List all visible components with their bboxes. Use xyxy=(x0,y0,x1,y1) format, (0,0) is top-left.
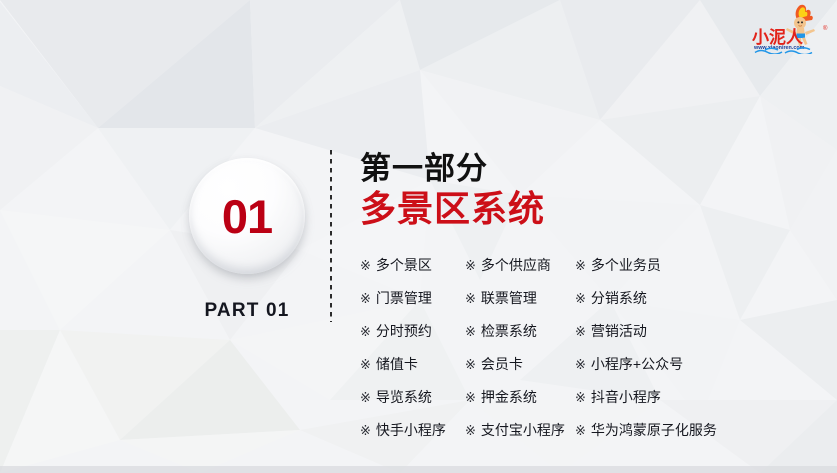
feature-item: ※ 检票系统 xyxy=(465,321,575,341)
feature-label: 小程序+公众号 xyxy=(591,354,683,374)
feature-item: ※ 多个供应商 xyxy=(465,255,575,275)
part-label-text: PART 01 xyxy=(163,300,331,322)
feature-item: ※ 会员卡 xyxy=(465,354,575,374)
feature-label: 联票管理 xyxy=(481,288,537,308)
asterisk-bullet-icon: ※ xyxy=(575,258,586,274)
feature-list-grid: ※ 多个景区 ※ 多个供应商 ※ 多个业务员 ※ 门票管理 ※ xyxy=(360,255,830,453)
feature-label: 门票管理 xyxy=(376,288,432,308)
feature-row: ※ 分时预约 ※ 检票系统 ※ 营销活动 xyxy=(360,321,830,354)
feature-row: ※ 快手小程序 ※ 支付宝小程序 ※ 华为鸿蒙原子化服务 xyxy=(360,420,830,453)
asterisk-bullet-icon: ※ xyxy=(575,291,586,307)
feature-label: 多个业务员 xyxy=(591,255,661,275)
asterisk-bullet-icon: ※ xyxy=(575,324,586,340)
feature-label: 检票系统 xyxy=(481,321,537,341)
feature-label: 营销活动 xyxy=(591,321,647,341)
feature-item: ※ 快手小程序 xyxy=(360,420,465,440)
part-badge-block: 01 PART 01 xyxy=(163,158,331,322)
asterisk-bullet-icon: ※ xyxy=(360,258,371,274)
section-title-secondary: 多景区系统 xyxy=(360,189,830,229)
asterisk-bullet-icon: ※ xyxy=(360,390,371,406)
registered-mark-icon: ® xyxy=(823,25,828,32)
section-content: 第一部分 多景区系统 ※ 多个景区 ※ 多个供应商 ※ 多个业务员 xyxy=(360,152,830,453)
circle-face: 01 xyxy=(189,158,305,274)
feature-item: ※ 门票管理 xyxy=(360,288,465,308)
feature-row: ※ 储值卡 ※ 会员卡 ※ 小程序+公众号 xyxy=(360,354,830,387)
part-number-text: 01 xyxy=(222,193,272,240)
asterisk-bullet-icon: ※ xyxy=(575,357,586,373)
feature-item: ※ 小程序+公众号 xyxy=(575,354,683,374)
part-number-circle: 01 xyxy=(189,158,305,274)
feature-item: ※ 导览系统 xyxy=(360,387,465,407)
feature-label: 押金系统 xyxy=(481,387,537,407)
feature-row: ※ 导览系统 ※ 押金系统 ※ 抖音小程序 xyxy=(360,387,830,420)
feature-item: ※ 多个景区 xyxy=(360,255,465,275)
feature-label: 华为鸿蒙原子化服务 xyxy=(591,420,717,440)
asterisk-bullet-icon: ※ xyxy=(465,291,476,307)
feature-label: 多个供应商 xyxy=(481,255,551,275)
asterisk-bullet-icon: ※ xyxy=(575,390,586,406)
logo-artwork: 小泥人 ® www.xiaoniren.com xyxy=(749,2,833,54)
asterisk-bullet-icon: ※ xyxy=(575,423,586,439)
xiaoniren-logo: 小泥人 ® www.xiaoniren.com xyxy=(749,2,833,54)
feature-item: ※ 华为鸿蒙原子化服务 xyxy=(575,420,717,440)
asterisk-bullet-icon: ※ xyxy=(360,291,371,307)
section-title-primary: 第一部分 xyxy=(360,152,830,187)
feature-item: ※ 支付宝小程序 xyxy=(465,420,575,440)
feature-label: 会员卡 xyxy=(481,354,523,374)
feature-item: ※ 押金系统 xyxy=(465,387,575,407)
asterisk-bullet-icon: ※ xyxy=(465,357,476,373)
asterisk-bullet-icon: ※ xyxy=(465,324,476,340)
asterisk-bullet-icon: ※ xyxy=(360,423,371,439)
feature-label: 多个景区 xyxy=(376,255,432,275)
feature-item: ※ 分销系统 xyxy=(575,288,647,308)
feature-item: ※ 分时预约 xyxy=(360,321,465,341)
asterisk-bullet-icon: ※ xyxy=(465,423,476,439)
feature-item: ※ 储值卡 xyxy=(360,354,465,374)
feature-label: 抖音小程序 xyxy=(591,387,661,407)
feature-item: ※ 联票管理 xyxy=(465,288,575,308)
asterisk-bullet-icon: ※ xyxy=(465,390,476,406)
feature-label: 支付宝小程序 xyxy=(481,420,565,440)
feature-label: 快手小程序 xyxy=(376,420,446,440)
feature-row: ※ 门票管理 ※ 联票管理 ※ 分销系统 xyxy=(360,288,830,321)
asterisk-bullet-icon: ※ xyxy=(360,324,371,340)
asterisk-bullet-icon: ※ xyxy=(360,357,371,373)
feature-label: 储值卡 xyxy=(376,354,418,374)
feature-row: ※ 多个景区 ※ 多个供应商 ※ 多个业务员 xyxy=(360,255,830,288)
feature-label: 分销系统 xyxy=(591,288,647,308)
feature-label: 分时预约 xyxy=(376,321,432,341)
asterisk-bullet-icon: ※ xyxy=(465,258,476,274)
feature-item: ※ 营销活动 xyxy=(575,321,647,341)
feature-label: 导览系统 xyxy=(376,387,432,407)
feature-item: ※ 抖音小程序 xyxy=(575,387,661,407)
feature-item: ※ 多个业务员 xyxy=(575,255,661,275)
presentation-slide: 小泥人 ® www.xiaoniren.com 01 PART 01 第一部分 xyxy=(0,0,837,473)
